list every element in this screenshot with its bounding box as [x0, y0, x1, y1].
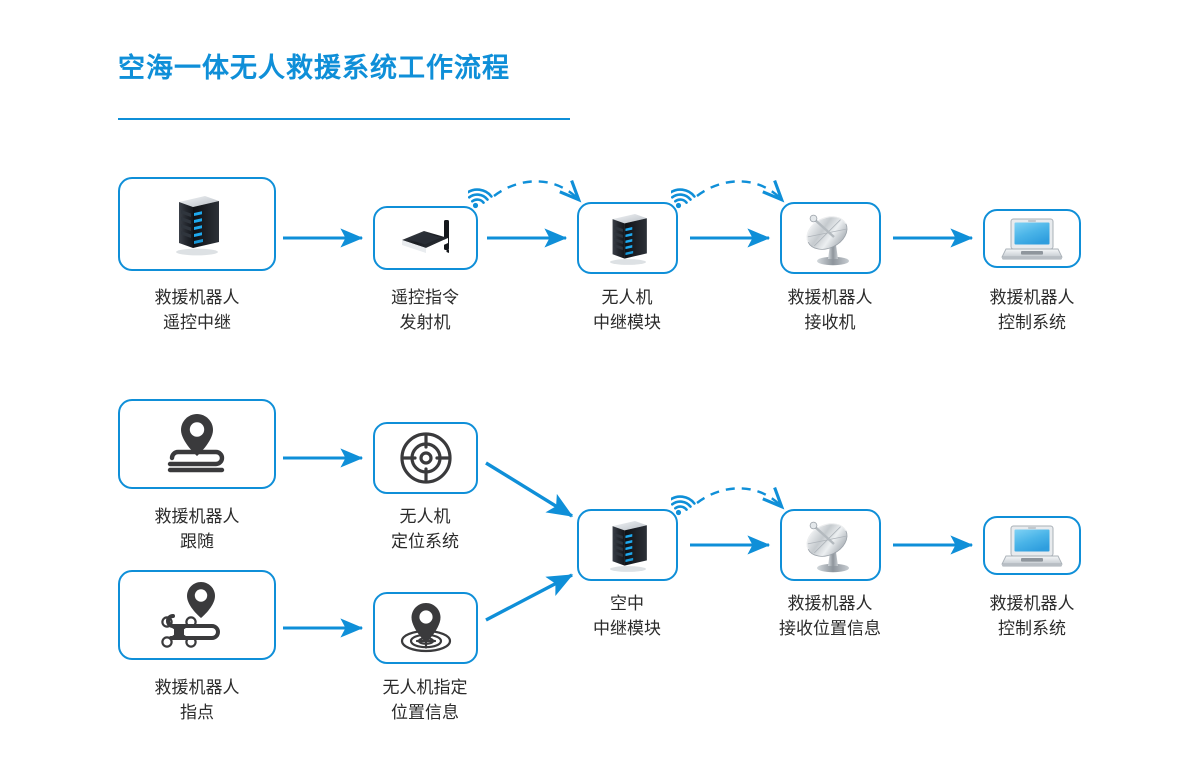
node-box[interactable] [983, 209, 1081, 268]
dashed-arc-n3-to-n4 [697, 181, 781, 199]
node-rescue-robot-control-system[interactable] [983, 209, 1081, 268]
node-box[interactable] [780, 509, 881, 581]
label-line-1: 救援机器人 [779, 592, 881, 617]
node-box[interactable] [577, 509, 678, 581]
label-line-1: 救援机器人 [788, 286, 873, 311]
satellite-dish-icon [801, 516, 861, 574]
node-rescue-robot-control-system-2[interactable] [983, 516, 1081, 575]
dashed-arc-n2-to-n3 [494, 181, 578, 199]
label-line-1: 救援机器人 [155, 505, 240, 530]
label-line-2: 定位系统 [391, 530, 459, 555]
server-icon [604, 517, 652, 573]
dashed-arc-n10-to-n11 [697, 488, 781, 506]
node-label: 救援机器人 控制系统 [990, 286, 1075, 335]
router-icon [390, 214, 462, 262]
laptop-icon [1001, 523, 1063, 569]
node-rescue-robot-receiver[interactable] [780, 202, 881, 274]
label-line-2: 位置信息 [383, 701, 468, 726]
node-drone-positioning-system[interactable] [373, 422, 478, 494]
node-drone-relay-module[interactable] [577, 202, 678, 274]
node-label: 救援机器人 控制系统 [990, 592, 1075, 641]
node-label: 无人机指定 位置信息 [383, 676, 468, 725]
label-line-1: 救援机器人 [155, 676, 240, 701]
label-line-2: 接收机 [788, 311, 873, 336]
node-box[interactable] [780, 202, 881, 274]
label-line-2: 指点 [155, 701, 240, 726]
node-label: 救援机器人 接收机 [788, 286, 873, 335]
node-rescue-robot-remote-relay[interactable] [118, 177, 276, 271]
label-line-2: 中继模块 [593, 617, 661, 642]
label-line-1: 救援机器人 [990, 286, 1075, 311]
title-divider [118, 118, 570, 120]
arrow-n7-to-n10 [486, 463, 572, 516]
page-title: 空海一体无人救援系统工作流程 [118, 52, 578, 84]
label-line-2: 中继模块 [593, 311, 661, 336]
title-block: 空海一体无人救援系统工作流程 [118, 52, 578, 84]
node-box[interactable] [118, 399, 276, 489]
laptop-icon [1001, 216, 1063, 262]
node-box[interactable] [118, 177, 276, 271]
node-label: 无人机 中继模块 [593, 286, 661, 335]
label-line-2: 遥控中继 [155, 311, 240, 336]
node-label: 空中 中继模块 [593, 592, 661, 641]
node-label: 遥控指令 发射机 [391, 286, 459, 335]
node-label: 救援机器人 指点 [155, 676, 240, 725]
label-line-2: 接收位置信息 [779, 617, 881, 642]
node-box[interactable] [373, 592, 478, 664]
node-box[interactable] [373, 206, 478, 270]
node-rescue-robot-follow[interactable] [118, 399, 276, 489]
label-line-1: 空中 [593, 592, 661, 617]
node-label: 救援机器人 接收位置信息 [779, 592, 881, 641]
satellite-dish-icon [801, 209, 861, 267]
label-line-1: 无人机指定 [383, 676, 468, 701]
pin-path-icon [160, 410, 234, 478]
node-remote-command-transmitter[interactable] [373, 206, 478, 270]
node-rescue-robot-receive-position-info[interactable] [780, 509, 881, 581]
arrow-n9-to-n10 [486, 575, 572, 620]
node-drone-designated-position-info[interactable] [373, 592, 478, 664]
label-line-1: 遥控指令 [391, 286, 459, 311]
node-box[interactable] [373, 422, 478, 494]
pin-radar-icon [395, 599, 457, 657]
node-box[interactable] [577, 202, 678, 274]
node-box[interactable] [983, 516, 1081, 575]
label-line-2: 控制系统 [990, 311, 1075, 336]
node-rescue-robot-pointing[interactable] [118, 570, 276, 660]
node-label: 无人机 定位系统 [391, 505, 459, 554]
drone-path-icon [157, 580, 237, 650]
node-label: 救援机器人 跟随 [155, 505, 240, 554]
node-air-relay-module[interactable] [577, 509, 678, 581]
server-icon [169, 192, 225, 256]
label-line-1: 无人机 [391, 505, 459, 530]
node-box[interactable] [118, 570, 276, 660]
label-line-2: 发射机 [391, 311, 459, 336]
label-line-1: 救援机器人 [990, 592, 1075, 617]
label-line-1: 救援机器人 [155, 286, 240, 311]
label-line-2: 跟随 [155, 530, 240, 555]
crosshair-icon [398, 430, 454, 486]
label-line-2: 控制系统 [990, 617, 1075, 642]
server-icon [604, 210, 652, 266]
label-line-1: 无人机 [593, 286, 661, 311]
node-label: 救援机器人 遥控中继 [155, 286, 240, 335]
